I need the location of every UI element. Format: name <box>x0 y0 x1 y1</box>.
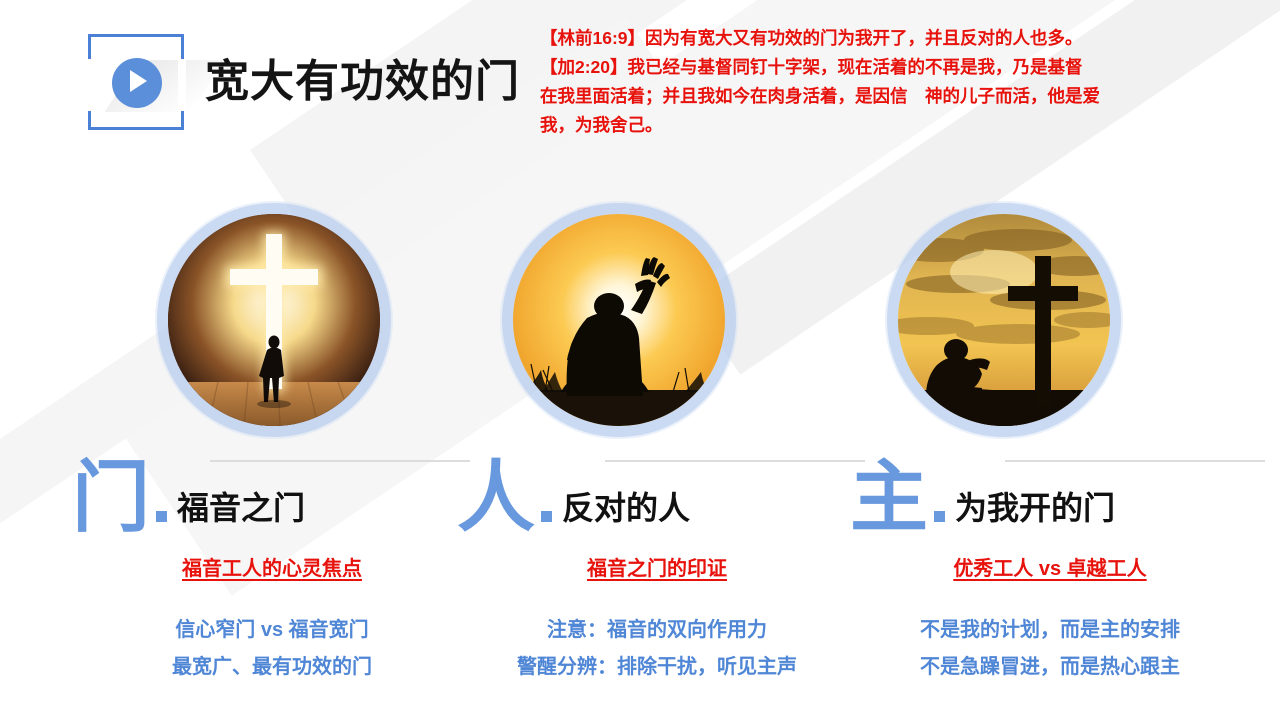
column-heading: 人 反对的人 <box>457 458 690 536</box>
presentation-slide: 宽大有功效的门 【林前16:9】因为有宽大又有功效的门为我开了，并且反对的人也多… <box>0 0 1280 720</box>
column-big-character: 主 <box>850 458 928 536</box>
column-sub-label: 为我开的门 <box>955 490 1115 526</box>
column-big-character: 人 <box>457 458 535 536</box>
blue-line: 信心窄门 vs 福音宽门 <box>62 612 482 649</box>
column-red-heading: 福音工人的心灵焦点 <box>62 552 482 581</box>
blue-line: 最宽广、最有功效的门 <box>62 649 482 686</box>
praying-figure-beside-cross-photo <box>898 214 1110 426</box>
column-red-heading: 优秀工人 vs 卓越工人 <box>840 552 1260 581</box>
column-heading: 主 为我开的门 <box>850 458 1115 536</box>
glowing-cross-doorway-photo <box>168 214 380 426</box>
blue-line: 注意：福音的双向作用力 <box>447 612 867 649</box>
kneeling-worshipper-sunrise-photo <box>513 214 725 426</box>
column-blue-lines: 信心窄门 vs 福音宽门 最宽广、最有功效的门 <box>62 612 482 686</box>
blue-line: 不是我的计划，而是主的安排 <box>840 612 1260 649</box>
blue-line: 不是急躁冒进，而是热心跟主 <box>840 649 1260 686</box>
square-dot-icon <box>156 511 167 522</box>
square-dot-icon <box>541 511 552 522</box>
column-blue-lines: 注意：福音的双向作用力 警醒分辨：排除干扰，听见主声 <box>447 612 867 686</box>
column-blue-lines: 不是我的计划，而是主的安排 不是急躁冒进，而是热心跟主 <box>840 612 1260 686</box>
column-red-heading: 福音之门的印证 <box>447 552 867 581</box>
square-dot-icon <box>934 511 945 522</box>
blue-line: 警醒分辨：排除干扰，听见主声 <box>447 649 867 686</box>
column-sub-label: 反对的人 <box>562 490 690 526</box>
column-heading: 门 福音之门 <box>72 458 305 536</box>
column-sub-label: 福音之门 <box>177 490 305 526</box>
column-big-character: 门 <box>72 458 150 536</box>
